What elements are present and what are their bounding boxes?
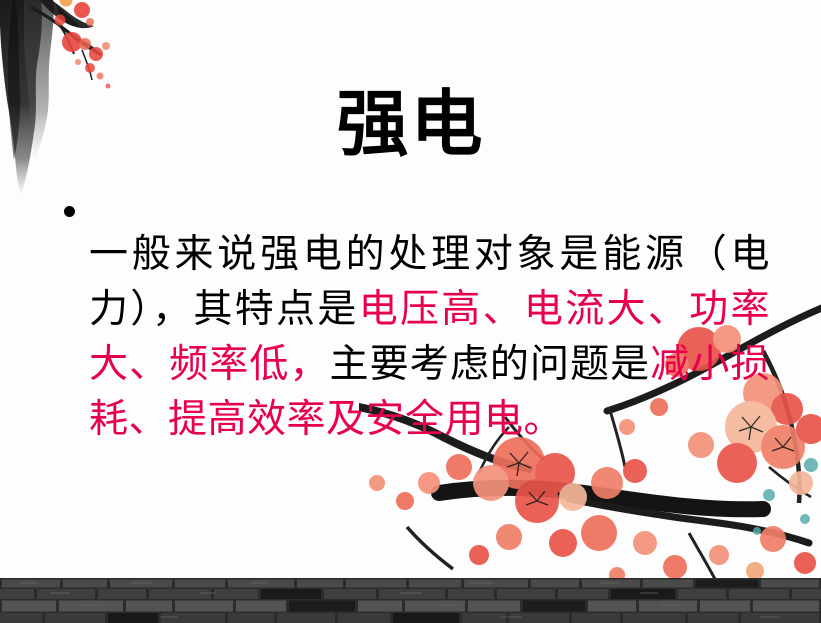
brick-wall-decoration: [0, 578, 821, 623]
list-item: 一般来说强电的处理对象是能源（电力），其特点是电压高、电流大、功率大、频率低，主…: [58, 188, 770, 486]
text-segment-plain-2: 主要考虑的问题是: [330, 342, 651, 387]
bullet-paragraph: 一般来说强电的处理对象是能源（电力），其特点是电压高、电流大、功率大、频率低，主…: [89, 227, 770, 447]
slide-canvas: 强电 一般来说强电的处理对象是能源（电力），其特点是电压高、电流大、功率大、频率…: [0, 0, 821, 623]
body-container: 一般来说强电的处理对象是能源（电力），其特点是电压高、电流大、功率大、频率低，主…: [58, 188, 770, 486]
bullet-dot-icon: [64, 206, 75, 217]
title-container: 强电: [0, 40, 821, 208]
page-title: 强电: [336, 88, 484, 160]
